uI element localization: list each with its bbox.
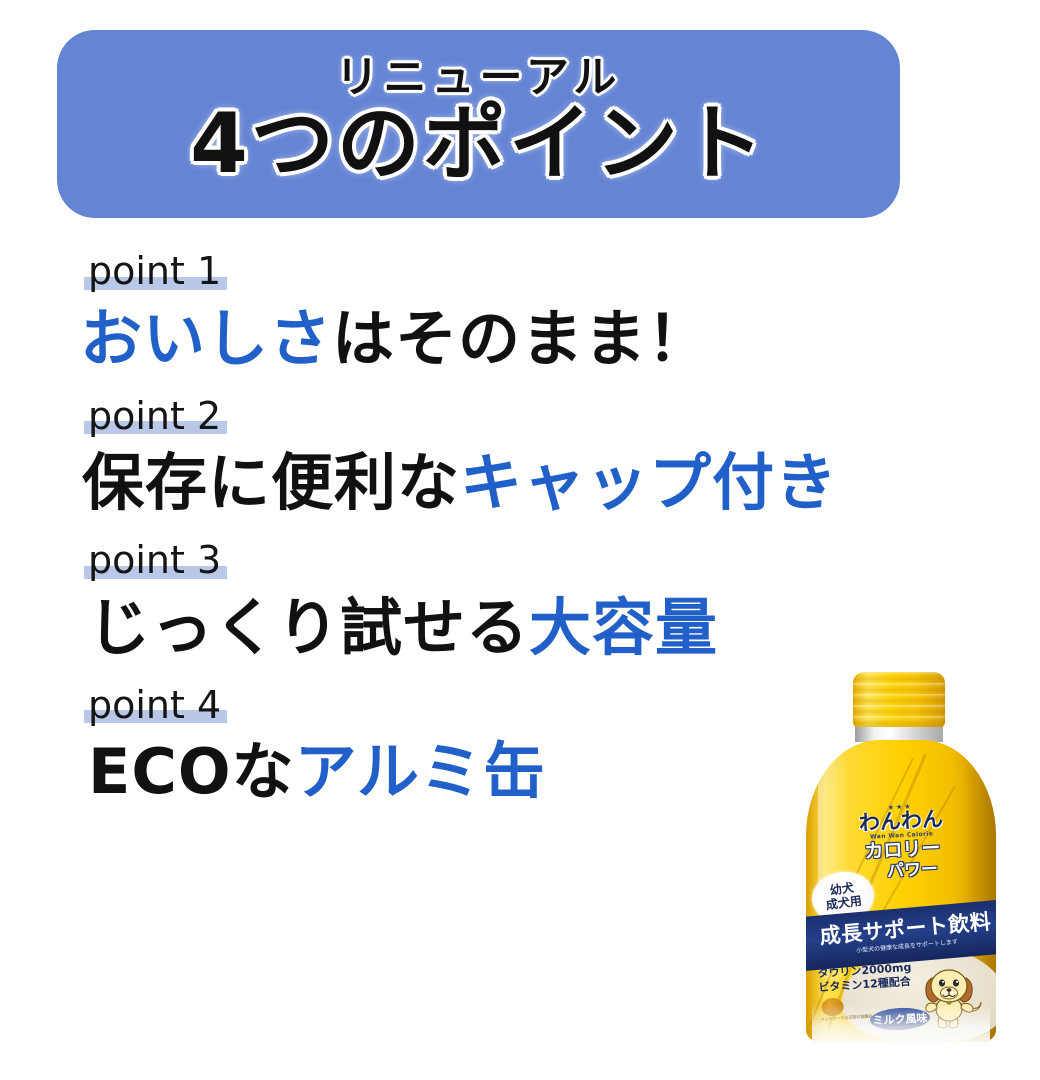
product-bottle-image: ★★★ わんわん Wan Wan Calorie カロリー パワー 幼犬 成犬用… [806,672,996,1044]
point-label-highlight-4: point 4 [84,682,227,730]
point-label-highlight-3: point 3 [84,537,227,585]
point-label-3: point 3 [88,538,221,582]
point-headline-1: おいしさはそのまま！ [80,302,1040,375]
point-label-2: point 2 [88,394,221,438]
point-headline-2: 保存に便利なキャップ付き [80,446,1040,519]
point-headline-accent-4: アルミ缶 [295,735,546,808]
banner-title: 4つのポイント [190,102,767,187]
point-label-highlight-1: point 1 [84,248,227,296]
bottle-bottom-sheen [812,1004,990,1042]
bottle-cap [853,672,945,728]
brand-power-word: パワー [853,860,972,883]
point-headline-accent-2: キャップ付き [460,446,838,519]
age-badge-line-2: 成犬用 [825,894,863,913]
point-label-highlight-2: point 2 [84,393,227,441]
banner-subtitle: リニューアル [336,57,622,100]
point-headline-plain-3: じっくり試せる [88,591,529,664]
point-label-1: point 1 [88,249,221,293]
bottle-body: ★★★ わんわん Wan Wan Calorie カロリー パワー 幼犬 成犬用… [806,740,996,1042]
point-block-2: point 2 保存に便利なキャップ付き [0,393,1040,520]
point-headline-plain-2: 保存に便利な [82,446,460,519]
point-block-1: point 1 おいしさはそのまま！ [0,248,1040,375]
point-headline-plain-4: ECOな [88,735,295,808]
brand-lockup: ★★★ わんわん Wan Wan Calorie カロリー パワー [832,800,972,883]
point-block-3: point 3 じっくり試せる大容量 [0,537,1040,664]
point-headline-plain-1: はそのまま！ [332,302,710,375]
point-headline-accent-3: 大容量 [529,591,718,664]
point-headline-accent-1: おいしさ [80,302,332,375]
point-headline-3: じっくり試せる大容量 [80,591,1040,664]
header-banner: リニューアル 4つのポイント [57,30,900,218]
point-label-4: point 4 [88,683,221,727]
